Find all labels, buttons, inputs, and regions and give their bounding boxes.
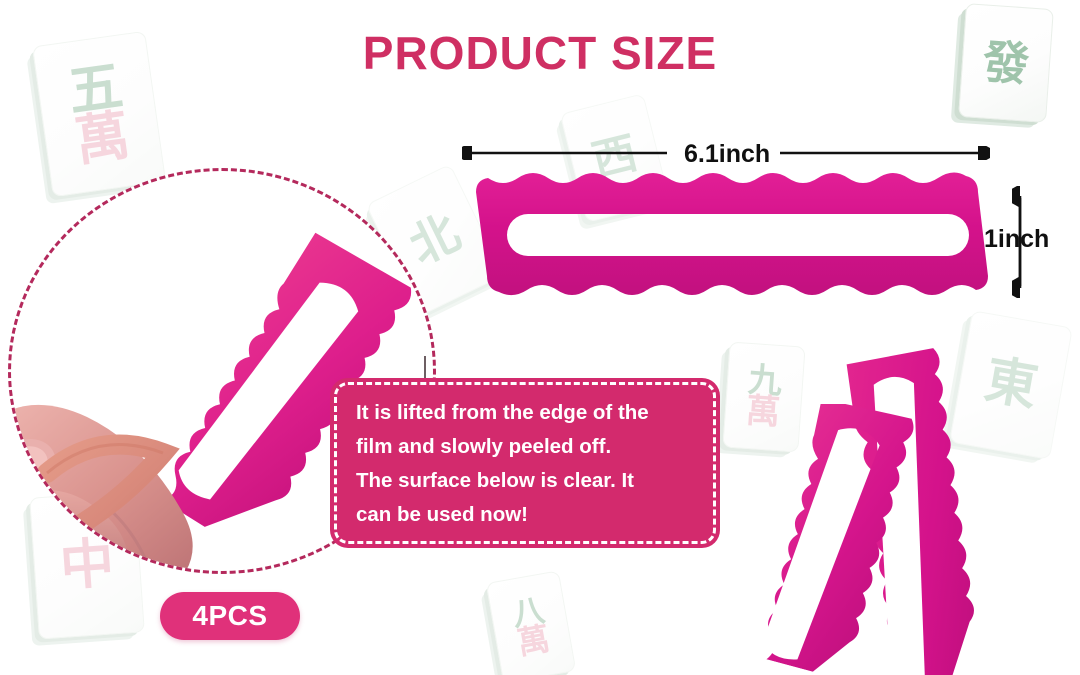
hand-photo: EN-SIGNBOXRB <box>8 301 281 574</box>
instruction-callout: It is lifted from the edge of the film a… <box>330 378 720 548</box>
callout-line-2: film and slowly peeled off. <box>356 430 698 464</box>
width-dimension-label: 6.1inch <box>684 140 770 169</box>
infographic-canvas: 五 萬 發 西 北 九 萬 東 中 八 萬 PRODUCT SIZE <box>0 0 1080 675</box>
callout-line-4: can be used now! <box>356 498 698 532</box>
page-title: PRODUCT SIZE <box>0 26 1080 80</box>
callout-line-1: It is lifted from the edge of the <box>356 396 698 430</box>
opener-right-front <box>752 404 1002 675</box>
callout-stem <box>424 356 426 380</box>
main-wavy-opener <box>462 168 1002 300</box>
tile-char-bottom: 萬 <box>72 110 132 167</box>
height-dimension-label: 1inch <box>984 225 1049 254</box>
callout-line-3: The surface below is clear. It <box>356 464 698 498</box>
tile-char-bottom: 萬 <box>515 624 552 659</box>
quantity-badge: 4PCS <box>160 592 300 640</box>
mahjong-tile-8-wan: 八 萬 <box>486 570 577 675</box>
